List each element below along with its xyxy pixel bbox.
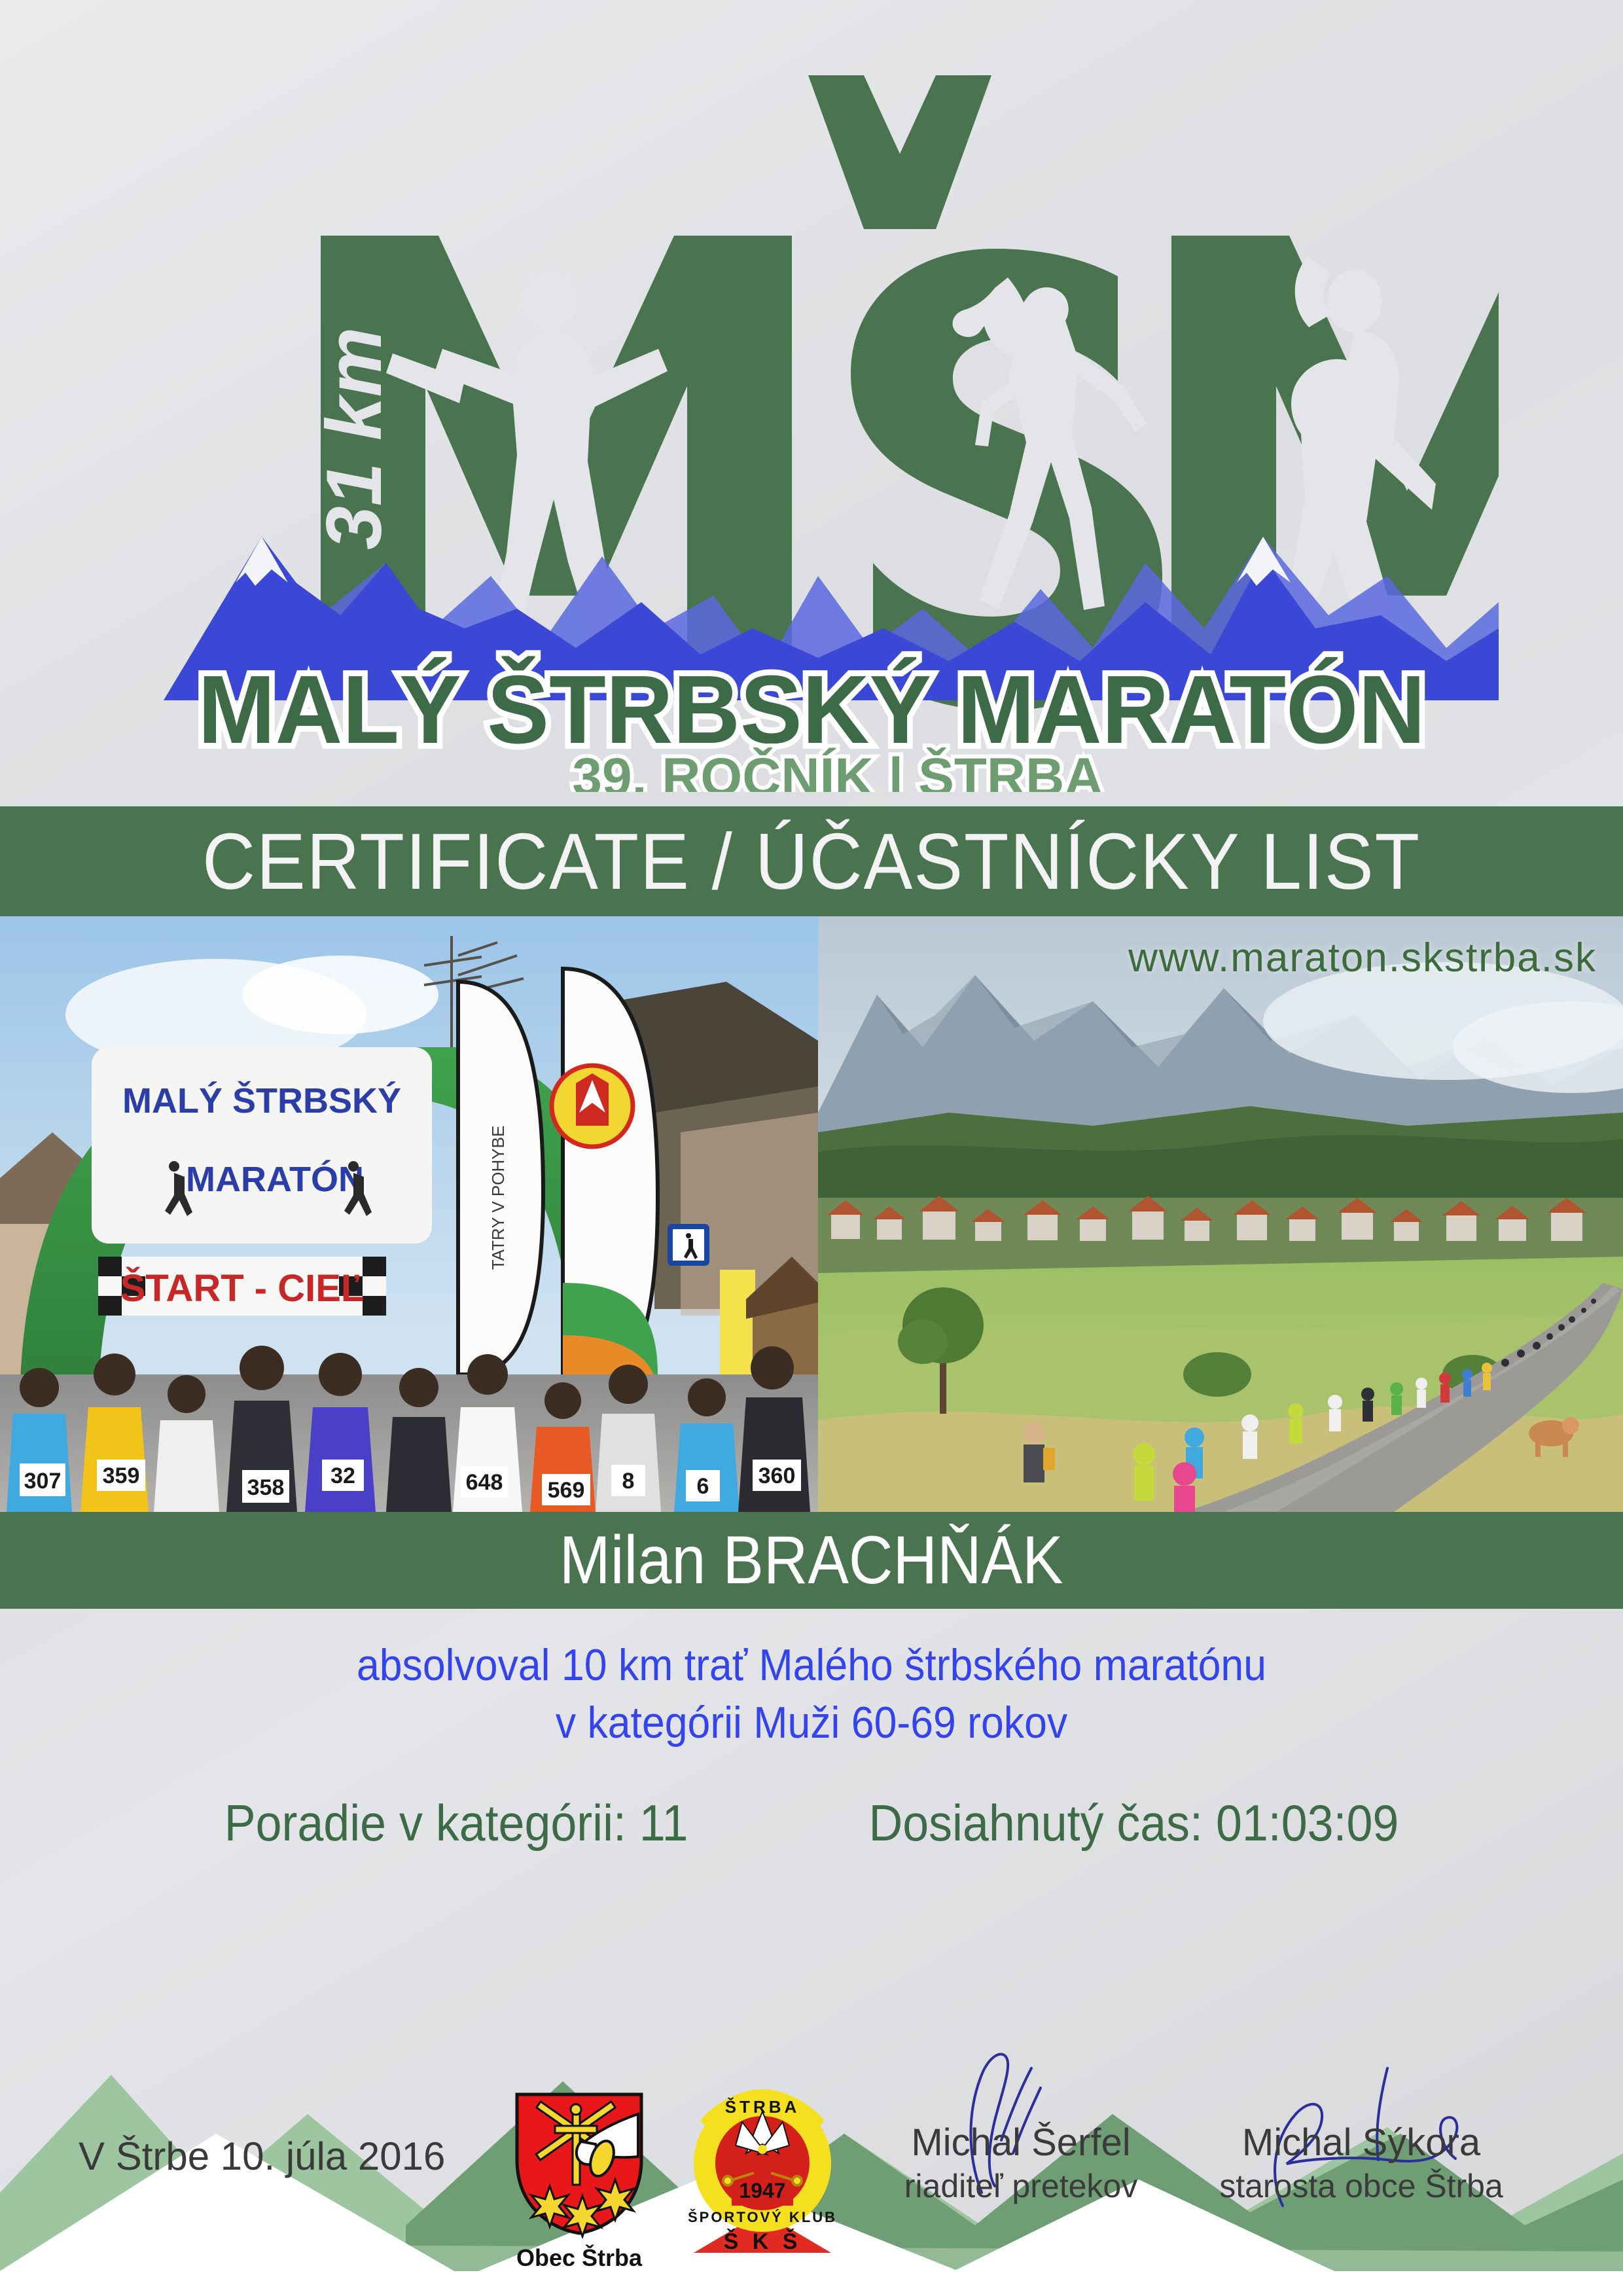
bib-number: 359 [103, 1463, 140, 1488]
sks-year: 1947 [739, 2179, 785, 2202]
photo-start-line: MALÝ ŠTRBSKÝ MARATÓN [0, 916, 818, 1512]
start-finish-text: ŠTART - CIEĽ [120, 1267, 365, 1310]
flag-text: TATRY V POHYBE [488, 1126, 508, 1270]
arch-text-line1: MALÝ ŠTRBSKÝ [122, 1081, 401, 1121]
caron-accent [808, 75, 991, 229]
crosswalk-sign [668, 1224, 709, 1266]
emblem-obec-strba: Obec Štrba [497, 2088, 661, 2272]
bib-number: 8 [622, 1469, 635, 1494]
participant-name: Milan BRACHŇÁK [560, 1522, 1063, 1600]
participant-name-bar: Milan BRACHŇÁK [0, 1512, 1623, 1609]
finish-time: Dosiahnutý čas: 01:03:09 [868, 1793, 1399, 1853]
certificate-page: 31 km 10 km [0, 0, 1623, 2296]
logo-zone: 31 km 10 km [0, 0, 1623, 792]
photo-strip: MALÝ ŠTRBSKÝ MARATÓN [0, 916, 1623, 1512]
issue-date: V Štrbe 10. júla 2016 [79, 2134, 445, 2179]
logo-left-distance: 31 km [310, 327, 398, 550]
description-line-2: v kategórii Muži 60-69 rokov [65, 1694, 1558, 1751]
category-rank: Poradie v kategórii: 11 [224, 1793, 688, 1853]
certificate-title-bar: CERTIFICATE / ÚČASTNÍCKY LIST [0, 806, 1623, 916]
signature-name-mayor: Michal Sýkora [1178, 2121, 1544, 2164]
bib-number: 307 [24, 1469, 62, 1494]
description-line-1: absolvoval 10 km trať Malého štrbského m… [65, 1636, 1558, 1694]
photo-open-road: www.maraton.skstrba.sk [818, 916, 1623, 1512]
open-road-illustration [818, 916, 1623, 1512]
start-finish-banner: ŠTART - CIEĽ [98, 1257, 386, 1316]
logo-subtitle: 39. ROČNÍK | ŠTRBA [572, 747, 1103, 792]
obec-strba-shield [497, 2088, 661, 2238]
bib-number: 358 [247, 1475, 285, 1500]
msm-logo: 31 km 10 km [124, 39, 1499, 792]
category-rank-value: 11 [639, 1794, 688, 1852]
footer: V Štrbe 10. júla 2016 [0, 2114, 1623, 2296]
results-row: Poradie v kategórii: 11 Dosiahnutý čas: … [65, 1793, 1558, 1853]
emblem-obec-strba-label: Obec Štrba [497, 2244, 661, 2272]
category-rank-label: Poradie v kategórii: [224, 1794, 626, 1852]
bib-number: 360 [758, 1463, 796, 1488]
sks-bottom-text: Š K Š [724, 2229, 802, 2254]
bib-number: 648 [466, 1470, 503, 1495]
sks-ring-text: ŠPORTOVÝ KLUB [688, 2209, 837, 2225]
signature-block-director: Michal Šerfel riaditeľ pretekov [838, 2121, 1204, 2205]
arch-text-line2: MARATÓN [186, 1160, 364, 1199]
bib-number: 32 [330, 1463, 355, 1488]
achievement-description: absolvoval 10 km trať Malého štrbského m… [65, 1636, 1558, 1752]
start-line-illustration: MALÝ ŠTRBSKÝ MARATÓN [0, 916, 818, 1512]
emblem-sks-strba: 1947 ŠTRBA ŠPORTOVÝ KLUB Š K Š [681, 2081, 844, 2261]
finish-time-value: 01:03:09 [1216, 1794, 1399, 1852]
signature-role-mayor: starosta obce Štrba [1178, 2167, 1544, 2205]
bib-number: 569 [548, 1478, 585, 1503]
website-url: www.maraton.skstrba.sk [1128, 935, 1597, 981]
sks-top-text: ŠTRBA [725, 2097, 800, 2117]
sks-club-badge: 1947 ŠTRBA ŠPORTOVÝ KLUB Š K Š [681, 2081, 844, 2258]
bib-number: 6 [697, 1474, 709, 1499]
signature-block-mayor: Michal Sýkora starosta obce Štrba [1178, 2121, 1544, 2205]
certificate-title: CERTIFICATE / ÚČASTNÍCKY LIST [202, 816, 1421, 907]
signature-role-director: riaditeľ pretekov [838, 2167, 1204, 2205]
finish-time-label: Dosiahnutý čas: [868, 1794, 1203, 1852]
signature-name-director: Michal Šerfel [838, 2121, 1204, 2164]
